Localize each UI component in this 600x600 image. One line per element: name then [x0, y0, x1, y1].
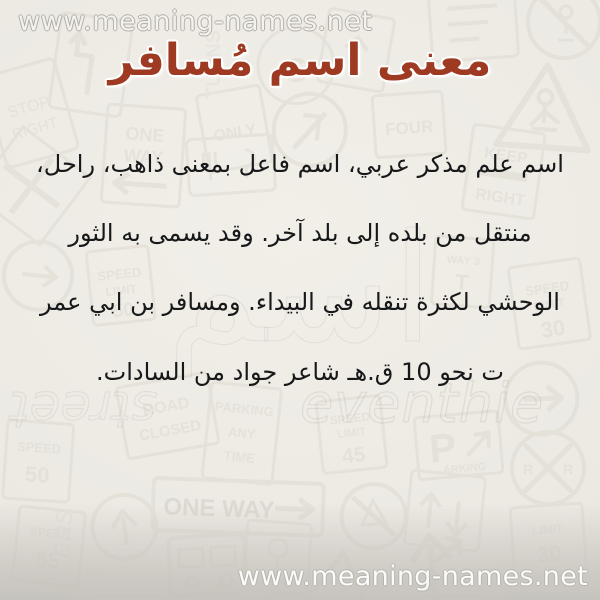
image-canvas: STOP RIGHT S [0, 0, 600, 600]
meaning-line: الوحشي لكثرة تنقله في البيداء. ومسافر بن… [30, 290, 570, 315]
meaning-line: اسم علم مذكر عربي، اسم فاعل بمعنى ذاهب، … [30, 152, 570, 177]
meaning-line: منتقل من بلده إلى بلد آخر. وقد يسمى به ا… [30, 221, 570, 246]
meaning-line: ت نحو 10 ق.هـ شاعر جواد من السادات. [30, 360, 570, 385]
page-title: معنى اسم مُسافر [0, 35, 600, 86]
bottom-site-watermark: www.meaning-names.net [238, 561, 588, 592]
top-site-watermark: www.meaning-names.net [18, 6, 372, 37]
name-meaning-text: اسم علم مذكر عربي، اسم فاعل بمعنى ذاهب، … [30, 152, 570, 385]
